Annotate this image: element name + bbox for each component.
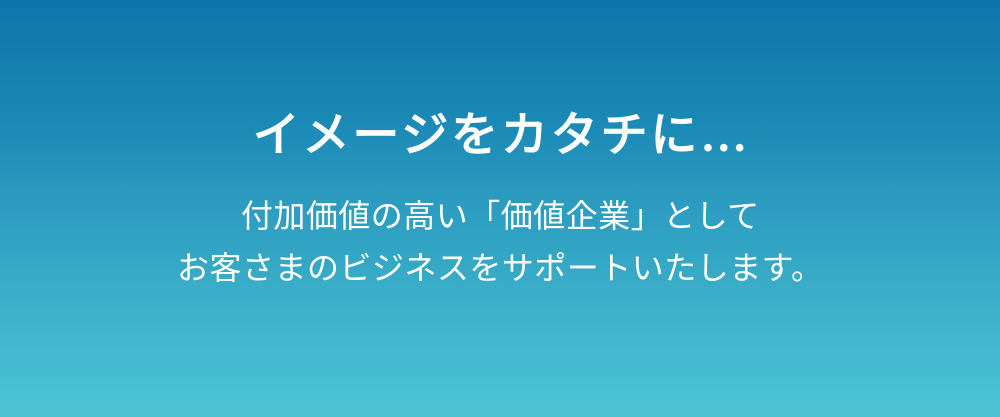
hero-subtitle-line-2: お客さまのビジネスをサポートいたします。 [0, 242, 1000, 294]
hero-subtitle-line-1: 付加価値の高い「価値企業」として [0, 190, 1000, 242]
hero-subtitle: 付加価値の高い「価値企業」として お客さまのビジネスをサポートいたします。 [0, 190, 1000, 294]
hero-title: イメージをカタチに… [0, 104, 1000, 168]
hero-banner: イメージをカタチに… 付加価値の高い「価値企業」として お客さまのビジネスをサポ… [0, 0, 1000, 417]
hero-content: イメージをカタチに… 付加価値の高い「価値企業」として お客さまのビジネスをサポ… [0, 0, 1000, 294]
